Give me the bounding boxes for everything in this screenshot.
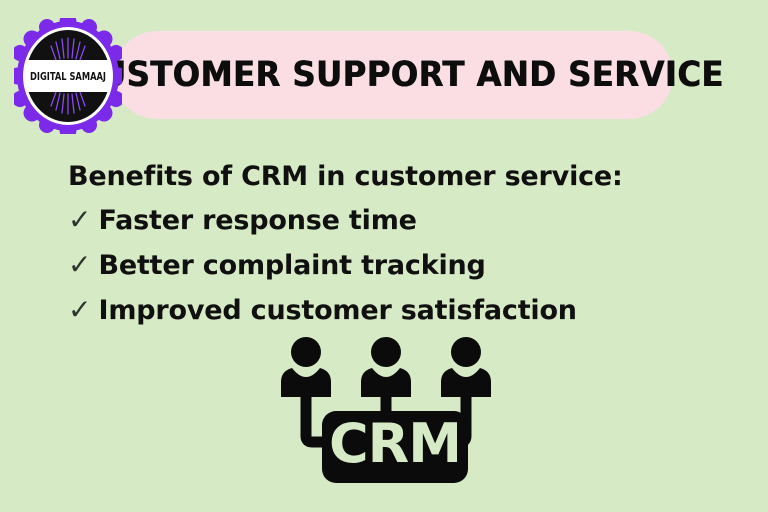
check-icon: ✓ — [68, 245, 91, 285]
list-item: ✓ Faster response time — [68, 200, 708, 241]
person-icon — [281, 337, 331, 397]
check-icon: ✓ — [68, 290, 91, 330]
check-icon: ✓ — [68, 200, 91, 240]
person-icon — [361, 337, 411, 397]
badge-rule-bottom — [26, 88, 110, 92]
logo-brand-text: DIGITAL SAMAAJ — [30, 70, 106, 83]
benefits-block: Benefits of CRM in customer service: ✓ F… — [68, 160, 708, 335]
list-item-label: Better complaint tracking — [98, 246, 485, 286]
crm-illustration: CRM — [272, 335, 500, 495]
logo-badge: DIGITAL SAMAAJ — [14, 18, 122, 134]
list-item: ✓ Improved customer satisfaction — [68, 290, 708, 331]
page-title: CUSTOMER SUPPORT AND SERVICE — [161, 31, 639, 119]
list-item-label: Faster response time — [98, 201, 416, 241]
slide-canvas: CUSTOMER SUPPORT AND SERVICE — [0, 0, 768, 512]
list-item-label: Improved customer satisfaction — [98, 291, 576, 331]
list-item: ✓ Better complaint tracking — [68, 245, 708, 286]
benefits-heading: Benefits of CRM in customer service: — [68, 160, 708, 194]
badge-rule-top — [26, 60, 110, 64]
crm-box-label: CRM — [329, 412, 461, 475]
person-icon — [441, 337, 491, 397]
